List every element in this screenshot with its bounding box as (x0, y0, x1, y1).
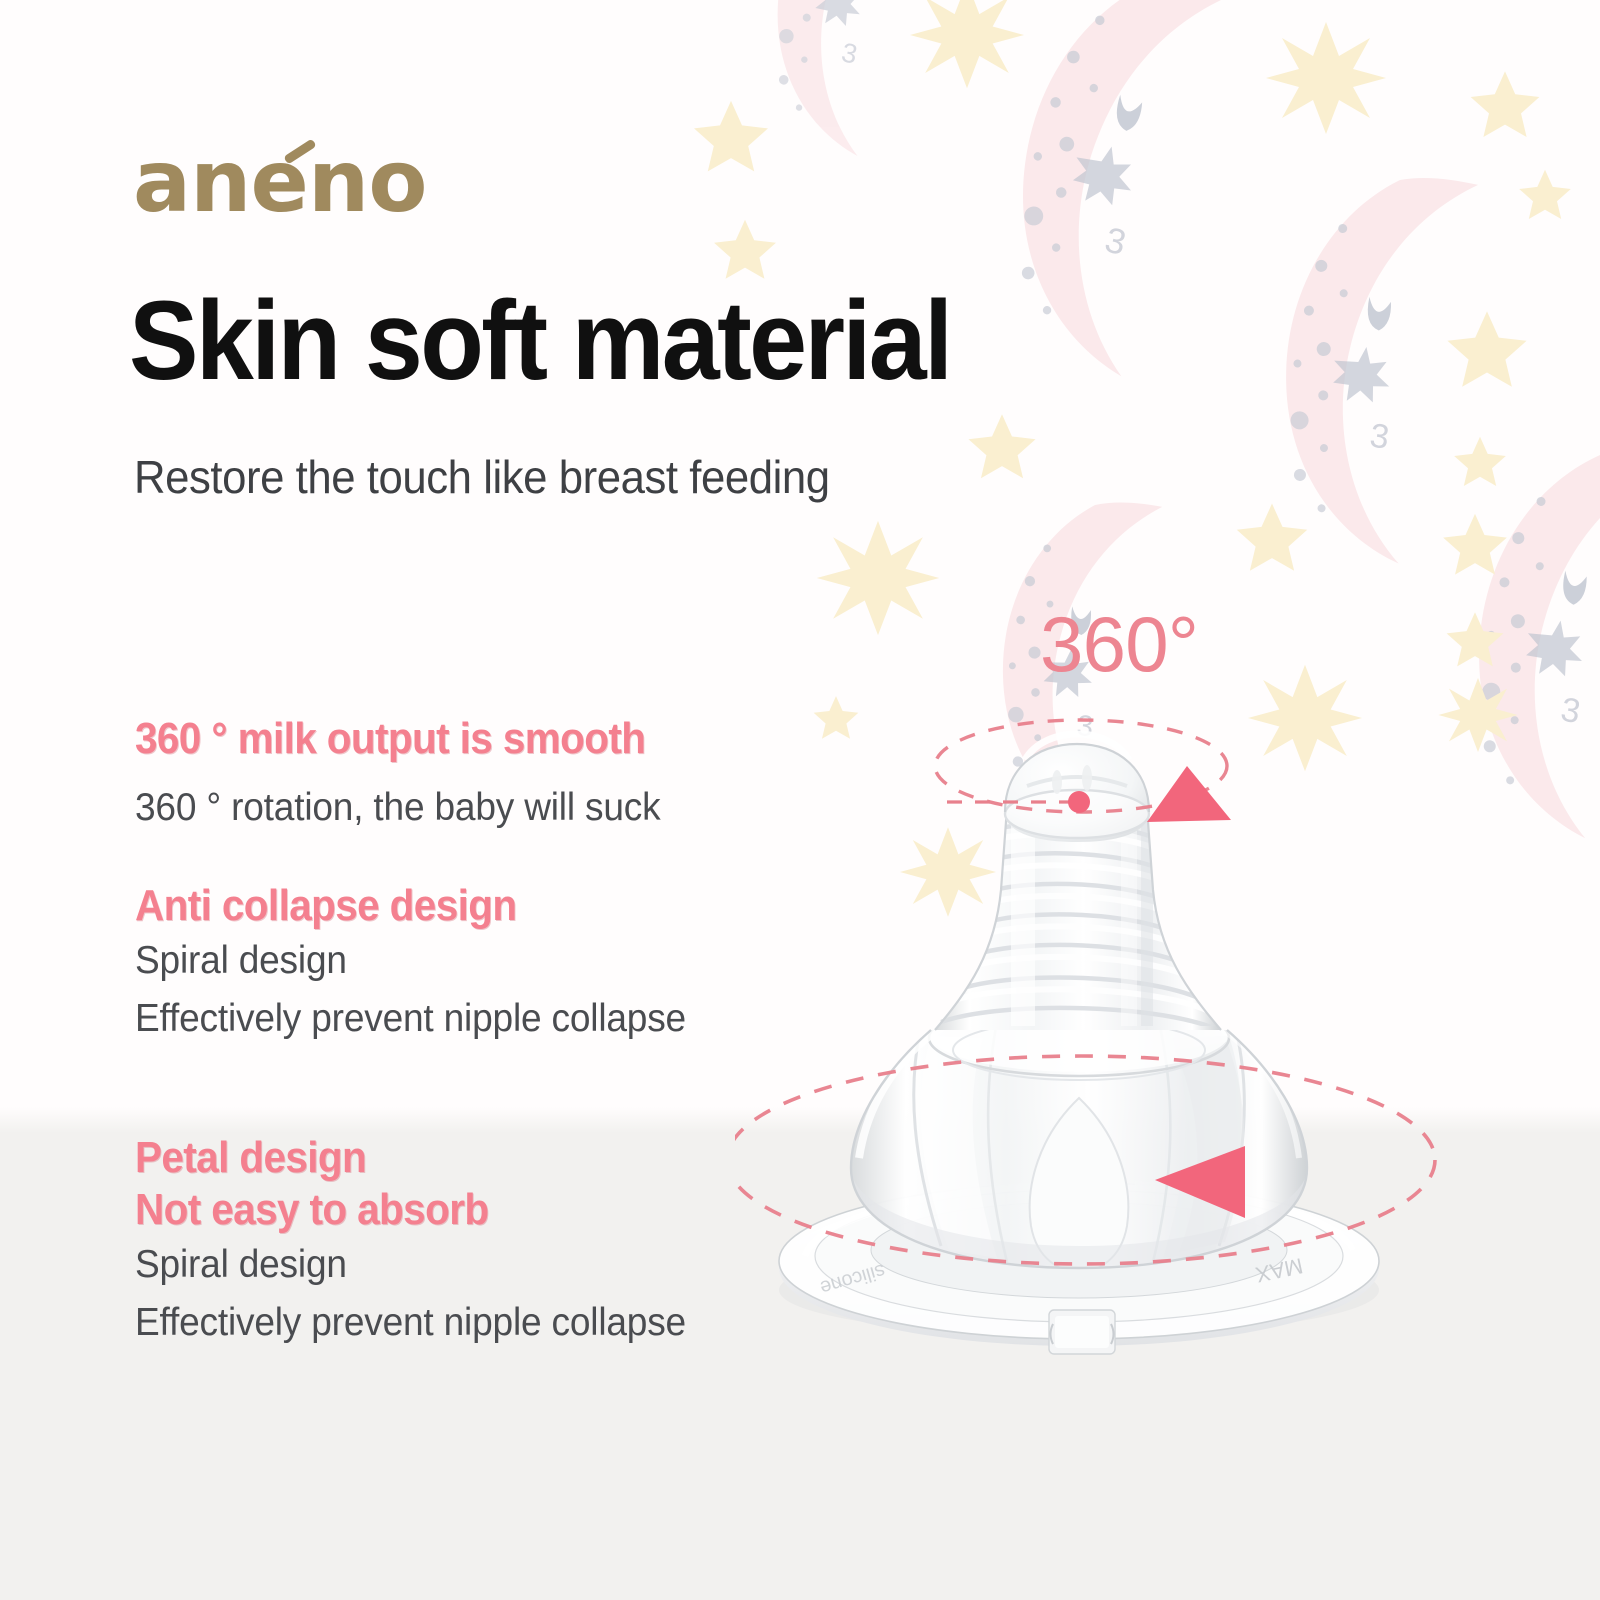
feature-title-line-2: Not easy to absorb (135, 1184, 669, 1236)
feature-line: Effectively prevent nipple collapse (135, 990, 686, 1048)
rotation-degree-label: 360° (1040, 605, 1198, 683)
text-content: aneno Skin soft material Restore the tou… (0, 0, 1600, 1600)
feature-block-petal-design: Petal design Not easy to absorb Spiral d… (135, 1132, 715, 1351)
brand-logo-text: aneno (133, 132, 427, 232)
feature-block-anti-collapse: Anti collapse design Spiral design Effec… (135, 880, 715, 1047)
product-feature-banner: 3 (0, 0, 1600, 1600)
brand-logo[interactable]: aneno (133, 139, 427, 225)
feature-title-line-1: Petal design (135, 1132, 669, 1184)
feature-line: Spiral design (135, 1236, 686, 1294)
feature-line: Effectively prevent nipple collapse (135, 1294, 686, 1352)
feature-block-360-rotation: 360 ° milk output is smooth 360 ° rotati… (135, 713, 690, 837)
feature-title: 360 ° milk output is smooth (135, 713, 645, 765)
feature-title: Anti collapse design (135, 880, 669, 932)
page-subtitle: Restore the touch like breast feeding (134, 450, 830, 505)
page-title: Skin soft material (129, 285, 950, 397)
feature-line: 360 ° rotation, the baby will suck (135, 779, 662, 837)
feature-line: Spiral design (135, 932, 686, 990)
